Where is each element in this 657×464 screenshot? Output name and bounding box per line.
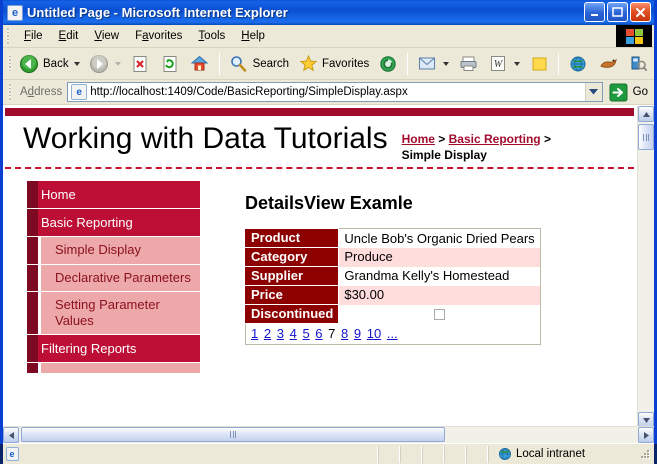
row-value-price: $30.00 — [339, 286, 540, 305]
row-value-product: Uncle Bob's Organic Dried Pears — [339, 229, 540, 248]
pager-page-8[interactable]: 8 — [341, 326, 348, 341]
main-content: DetailsView Examle Product Uncle Bob's O… — [200, 181, 634, 374]
row-header-product: Product — [246, 229, 339, 248]
zone-label: Local intranet — [516, 448, 585, 460]
table-row: Product Uncle Bob's Organic Dried Pears — [246, 229, 541, 248]
status-message — [21, 446, 378, 463]
row-header-discontinued: Discontinued — [246, 305, 339, 324]
status-pane-3 — [422, 446, 444, 463]
sidebar-nav: Home Basic Reporting Simple Display Decl… — [5, 181, 200, 374]
history-icon — [377, 53, 399, 75]
table-row: Discontinued — [246, 305, 541, 324]
sidebar-item-label: Filtering Reports — [41, 341, 136, 356]
status-page-icon: e — [3, 447, 21, 461]
status-pane-1 — [378, 446, 400, 463]
breadcrumb-link-home[interactable]: Home — [402, 132, 435, 146]
pager-page-6[interactable]: 6 — [315, 326, 322, 341]
notes-icon — [528, 53, 550, 75]
browser-window: e Untitled Page - Microsoft Internet Exp… — [0, 0, 657, 444]
discuss-button[interactable] — [623, 51, 653, 77]
breadcrumb-current: Simple Display — [402, 148, 487, 162]
sidebar-item-label: Simple Display — [55, 242, 141, 257]
address-bar: Address e http://localhost:1409/Code/Bas… — [3, 80, 654, 105]
table-row: Price $30.00 — [246, 286, 541, 305]
search-icon — [228, 53, 250, 75]
sidebar-item-label: Home — [41, 187, 76, 202]
pager-cell: 1 2 3 4 5 6 7 8 9 10 — [246, 324, 541, 345]
address-gripper[interactable] — [7, 84, 15, 100]
pager-page-2[interactable]: 2 — [264, 326, 271, 341]
sidebar-item-basic-reporting[interactable]: Basic Reporting — [27, 209, 200, 237]
print-icon — [457, 53, 479, 75]
favorites-label: Favorites — [322, 58, 369, 70]
horizontal-scroll-thumb[interactable] — [21, 427, 445, 442]
discuss-icon — [627, 53, 649, 75]
web-page: Working with Data Tutorials Home > Basic… — [3, 106, 634, 426]
page-body: Home Basic Reporting Simple Display Decl… — [5, 169, 634, 374]
print-button[interactable] — [453, 51, 483, 77]
page-title: Working with Data Tutorials — [23, 122, 388, 157]
sidebar-item-filtering-reports[interactable]: Filtering Reports — [27, 335, 200, 363]
window-title: Untitled Page - Microsoft Internet Explo… — [27, 5, 288, 20]
sidebar-item-label: Basic Reporting — [41, 215, 133, 230]
home-icon — [189, 53, 211, 75]
sidebar-item-setting-parameter-values[interactable]: Setting Parameter Values — [41, 292, 200, 336]
page-top-accent-bar — [5, 108, 634, 116]
table-row: Supplier Grandma Kelly's Homestead — [246, 267, 541, 286]
pager-page-1[interactable]: 1 — [251, 326, 258, 341]
pager: 1 2 3 4 5 6 7 8 9 10 — [251, 326, 535, 341]
menu-tools[interactable]: Tools — [190, 27, 233, 45]
row-header-supplier: Supplier — [246, 267, 339, 286]
globe-icon — [497, 447, 512, 462]
research-button[interactable] — [593, 51, 623, 77]
breadcrumb: Home > Basic Reporting > Simple Display — [402, 131, 551, 163]
breadcrumb-link-basic-reporting[interactable]: Basic Reporting — [449, 132, 541, 146]
messenger-button[interactable] — [563, 51, 593, 77]
vertical-scroll-thumb[interactable] — [638, 124, 654, 150]
menu-view[interactable]: View — [86, 27, 127, 45]
pager-page-more[interactable]: ... — [387, 326, 398, 341]
mail-icon — [416, 53, 438, 75]
back-label: Back — [43, 58, 69, 70]
menu-help[interactable]: Help — [233, 27, 273, 45]
go-arrow-icon — [608, 81, 630, 103]
vertical-scrollbar[interactable] — [637, 106, 654, 428]
forward-icon — [88, 53, 110, 75]
row-header-price: Price — [246, 286, 339, 305]
mail-button[interactable] — [412, 51, 453, 77]
forward-button[interactable] — [84, 51, 125, 77]
pager-page-9[interactable]: 9 — [354, 326, 361, 341]
pager-page-3[interactable]: 3 — [277, 326, 284, 341]
pager-page-10[interactable]: 10 — [367, 326, 381, 341]
row-value-discontinued — [339, 305, 540, 324]
back-icon — [18, 53, 40, 75]
row-value-category: Produce — [339, 248, 540, 267]
encarta-button[interactable]: 0101 1010 0101 — [653, 51, 657, 77]
address-label: Address — [18, 86, 67, 98]
details-view-heading: DetailsView Examle — [245, 193, 634, 214]
stop-icon — [129, 53, 151, 75]
go-button[interactable]: Go — [606, 81, 654, 103]
history-button[interactable] — [373, 51, 403, 77]
stop-button[interactable] — [125, 51, 155, 77]
address-dropdown-button[interactable] — [585, 83, 602, 101]
status-bar: e Local intranet — [3, 443, 654, 464]
sidebar-item-home[interactable]: Home — [27, 181, 200, 209]
resize-grip-icon[interactable] — [638, 447, 652, 461]
home-button[interactable] — [185, 51, 215, 77]
breadcrumb-separator-1: > — [435, 132, 449, 146]
status-pane-2 — [400, 446, 422, 463]
status-pane-4 — [444, 446, 466, 463]
sidebar-item-label: Setting Parameter Values — [55, 297, 160, 328]
menu-gripper[interactable] — [5, 28, 13, 44]
horizontal-scrollbar[interactable] — [3, 426, 654, 443]
forward-dropdown-icon[interactable] — [115, 62, 121, 66]
title-bar: e Untitled Page - Microsoft Internet Exp… — [3, 0, 654, 25]
row-header-category: Category — [246, 248, 339, 267]
sidebar-item-label: Declarative Parameters — [55, 270, 191, 285]
menu-favorites[interactable]: Favorites — [127, 27, 190, 45]
thumb-grip-icon — [230, 431, 236, 438]
back-button[interactable]: Back — [14, 51, 84, 77]
row-value-supplier: Grandma Kelly's Homestead — [339, 267, 540, 286]
status-pane-5 — [466, 446, 488, 463]
maximize-button[interactable] — [607, 2, 628, 22]
address-input[interactable]: http://localhost:1409/Code/BasicReportin… — [90, 84, 584, 100]
scroll-left-button[interactable] — [3, 427, 19, 443]
research-icon — [597, 53, 619, 75]
page-viewport: Working with Data Tutorials Home > Basic… — [3, 105, 654, 443]
favorites-icon — [297, 53, 319, 75]
sidebar-item-partial[interactable] — [41, 363, 200, 374]
breadcrumb-separator-2: > — [541, 132, 551, 146]
search-button[interactable]: Search — [224, 51, 293, 77]
menu-edit[interactable]: Edit — [51, 27, 87, 45]
menu-bar: File Edit View Favorites Tools Help — [3, 25, 654, 48]
table-row: Category Produce — [246, 248, 541, 267]
refresh-icon — [159, 53, 181, 75]
toolbar-gripper[interactable] — [7, 56, 11, 72]
close-button[interactable] — [630, 2, 651, 22]
thumb-grip-icon — [643, 134, 649, 141]
details-view-table: Product Uncle Bob's Organic Dried Pears … — [245, 228, 541, 345]
sidebar-item-declarative-parameters[interactable]: Declarative Parameters — [41, 265, 200, 292]
security-zone[interactable]: Local intranet — [488, 446, 638, 463]
address-input-wrapper[interactable]: e http://localhost:1409/Code/BasicReport… — [67, 82, 602, 102]
page-header: Working with Data Tutorials Home > Basic… — [5, 116, 634, 169]
pager-row: 1 2 3 4 5 6 7 8 9 10 — [246, 324, 541, 345]
standard-toolbar: Back — [3, 48, 654, 80]
pager-page-4[interactable]: 4 — [290, 326, 297, 341]
page-favicon-icon: e — [71, 84, 87, 100]
refresh-button[interactable] — [155, 51, 185, 77]
mail-dropdown-icon[interactable] — [443, 62, 449, 66]
minimize-button[interactable] — [584, 2, 605, 22]
notes-button[interactable] — [524, 51, 554, 77]
go-label: Go — [633, 86, 648, 98]
pager-page-current: 7 — [328, 326, 335, 341]
back-dropdown-icon[interactable] — [74, 62, 80, 66]
favorites-button[interactable]: Favorites — [293, 51, 373, 77]
messenger-icon — [567, 53, 589, 75]
edit-word-button[interactable]: W — [483, 51, 524, 77]
sidebar-item-simple-display[interactable]: Simple Display — [41, 237, 200, 264]
menu-file[interactable]: File — [16, 27, 51, 45]
search-label: Search — [253, 58, 289, 70]
scroll-right-button[interactable] — [638, 427, 654, 443]
scroll-up-button[interactable] — [638, 106, 654, 122]
edit-dropdown-icon[interactable] — [514, 62, 520, 66]
windows-logo-icon — [616, 25, 652, 47]
edit-word-icon: W — [487, 53, 509, 75]
window-controls — [584, 2, 651, 22]
ie-document-icon: e — [7, 5, 23, 21]
discontinued-checkbox — [434, 309, 445, 320]
pager-page-5[interactable]: 5 — [302, 326, 309, 341]
